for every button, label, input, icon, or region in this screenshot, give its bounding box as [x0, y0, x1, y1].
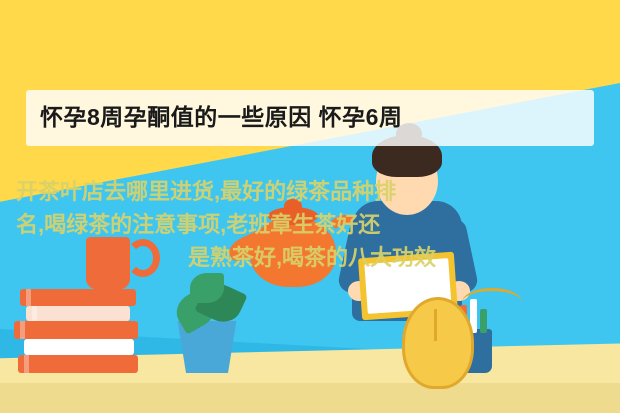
title-card: 怀孕8周孕酮值的一些原因 怀孕6周 [26, 90, 594, 146]
subtitle-line-2: 名,喝绿茶的注意事项,老班章生茶好还 [16, 208, 608, 241]
book-stack-item [26, 306, 130, 321]
subtitle-block: 开茶叶店去哪里进货,最好的绿茶品种排 名,喝绿茶的注意事项,老班章生茶好还 是熟… [16, 175, 608, 274]
book-stack-item [18, 355, 138, 373]
book-stack-item [24, 339, 134, 355]
illustration-screenshot: 怀孕8周孕酮值的一些原因 怀孕6周 开茶叶店去哪里进货,最好的绿茶品种排 名,喝… [0, 0, 620, 413]
book-stack-item [14, 321, 138, 339]
computer-mouse [402, 297, 474, 389]
mouse-cable [462, 288, 522, 317]
subtitle-line-1: 开茶叶店去哪里进货,最好的绿茶品种排 [16, 175, 608, 208]
mouse-split-line [434, 309, 437, 341]
subtitle-line-3: 是熟茶好,喝茶的八大功效 [16, 241, 608, 274]
title-line: 怀孕8周孕酮值的一些原因 怀孕6周 [40, 100, 580, 134]
floor-shadow [0, 383, 620, 413]
book-stack-item [20, 289, 136, 306]
plant-leaf [190, 273, 224, 303]
